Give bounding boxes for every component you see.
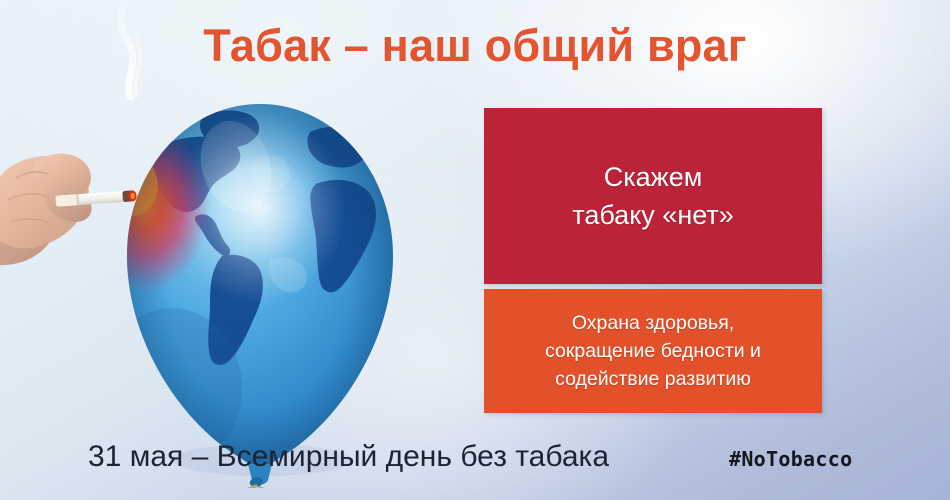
- poster-canvas: Табак – наш общий враг Скажем табаку «не…: [0, 0, 950, 500]
- theme-line-3: содействие развитию: [545, 365, 761, 393]
- hand-holding-cigarette: [0, 108, 172, 293]
- slogan-line-1: Скажем: [572, 158, 734, 196]
- hand-svg: [0, 108, 172, 293]
- curled-ribbon: [238, 486, 274, 488]
- theme-line-1: Охрана здоровья,: [545, 309, 761, 337]
- event-date-line: 31 мая – Всемирный день без табака: [88, 440, 609, 474]
- theme-panel-orange: Охрана здоровья, сокращение бедности и с…: [484, 289, 822, 413]
- slogan-panel-red-text: Скажем табаку «нет»: [572, 158, 734, 234]
- theme-line-2: сокращение бедности и: [545, 337, 761, 365]
- cigarette-filter: [55, 194, 78, 207]
- page-title: Табак – наш общий враг: [0, 20, 950, 72]
- theme-panel-orange-text: Охрана здоровья, сокращение бедности и с…: [537, 309, 769, 393]
- campaign-hashtag: #NoTobacco: [729, 447, 852, 471]
- slogan-line-2: табаку «нет»: [572, 196, 734, 234]
- slogan-panel-red: Скажем табаку «нет»: [484, 108, 822, 284]
